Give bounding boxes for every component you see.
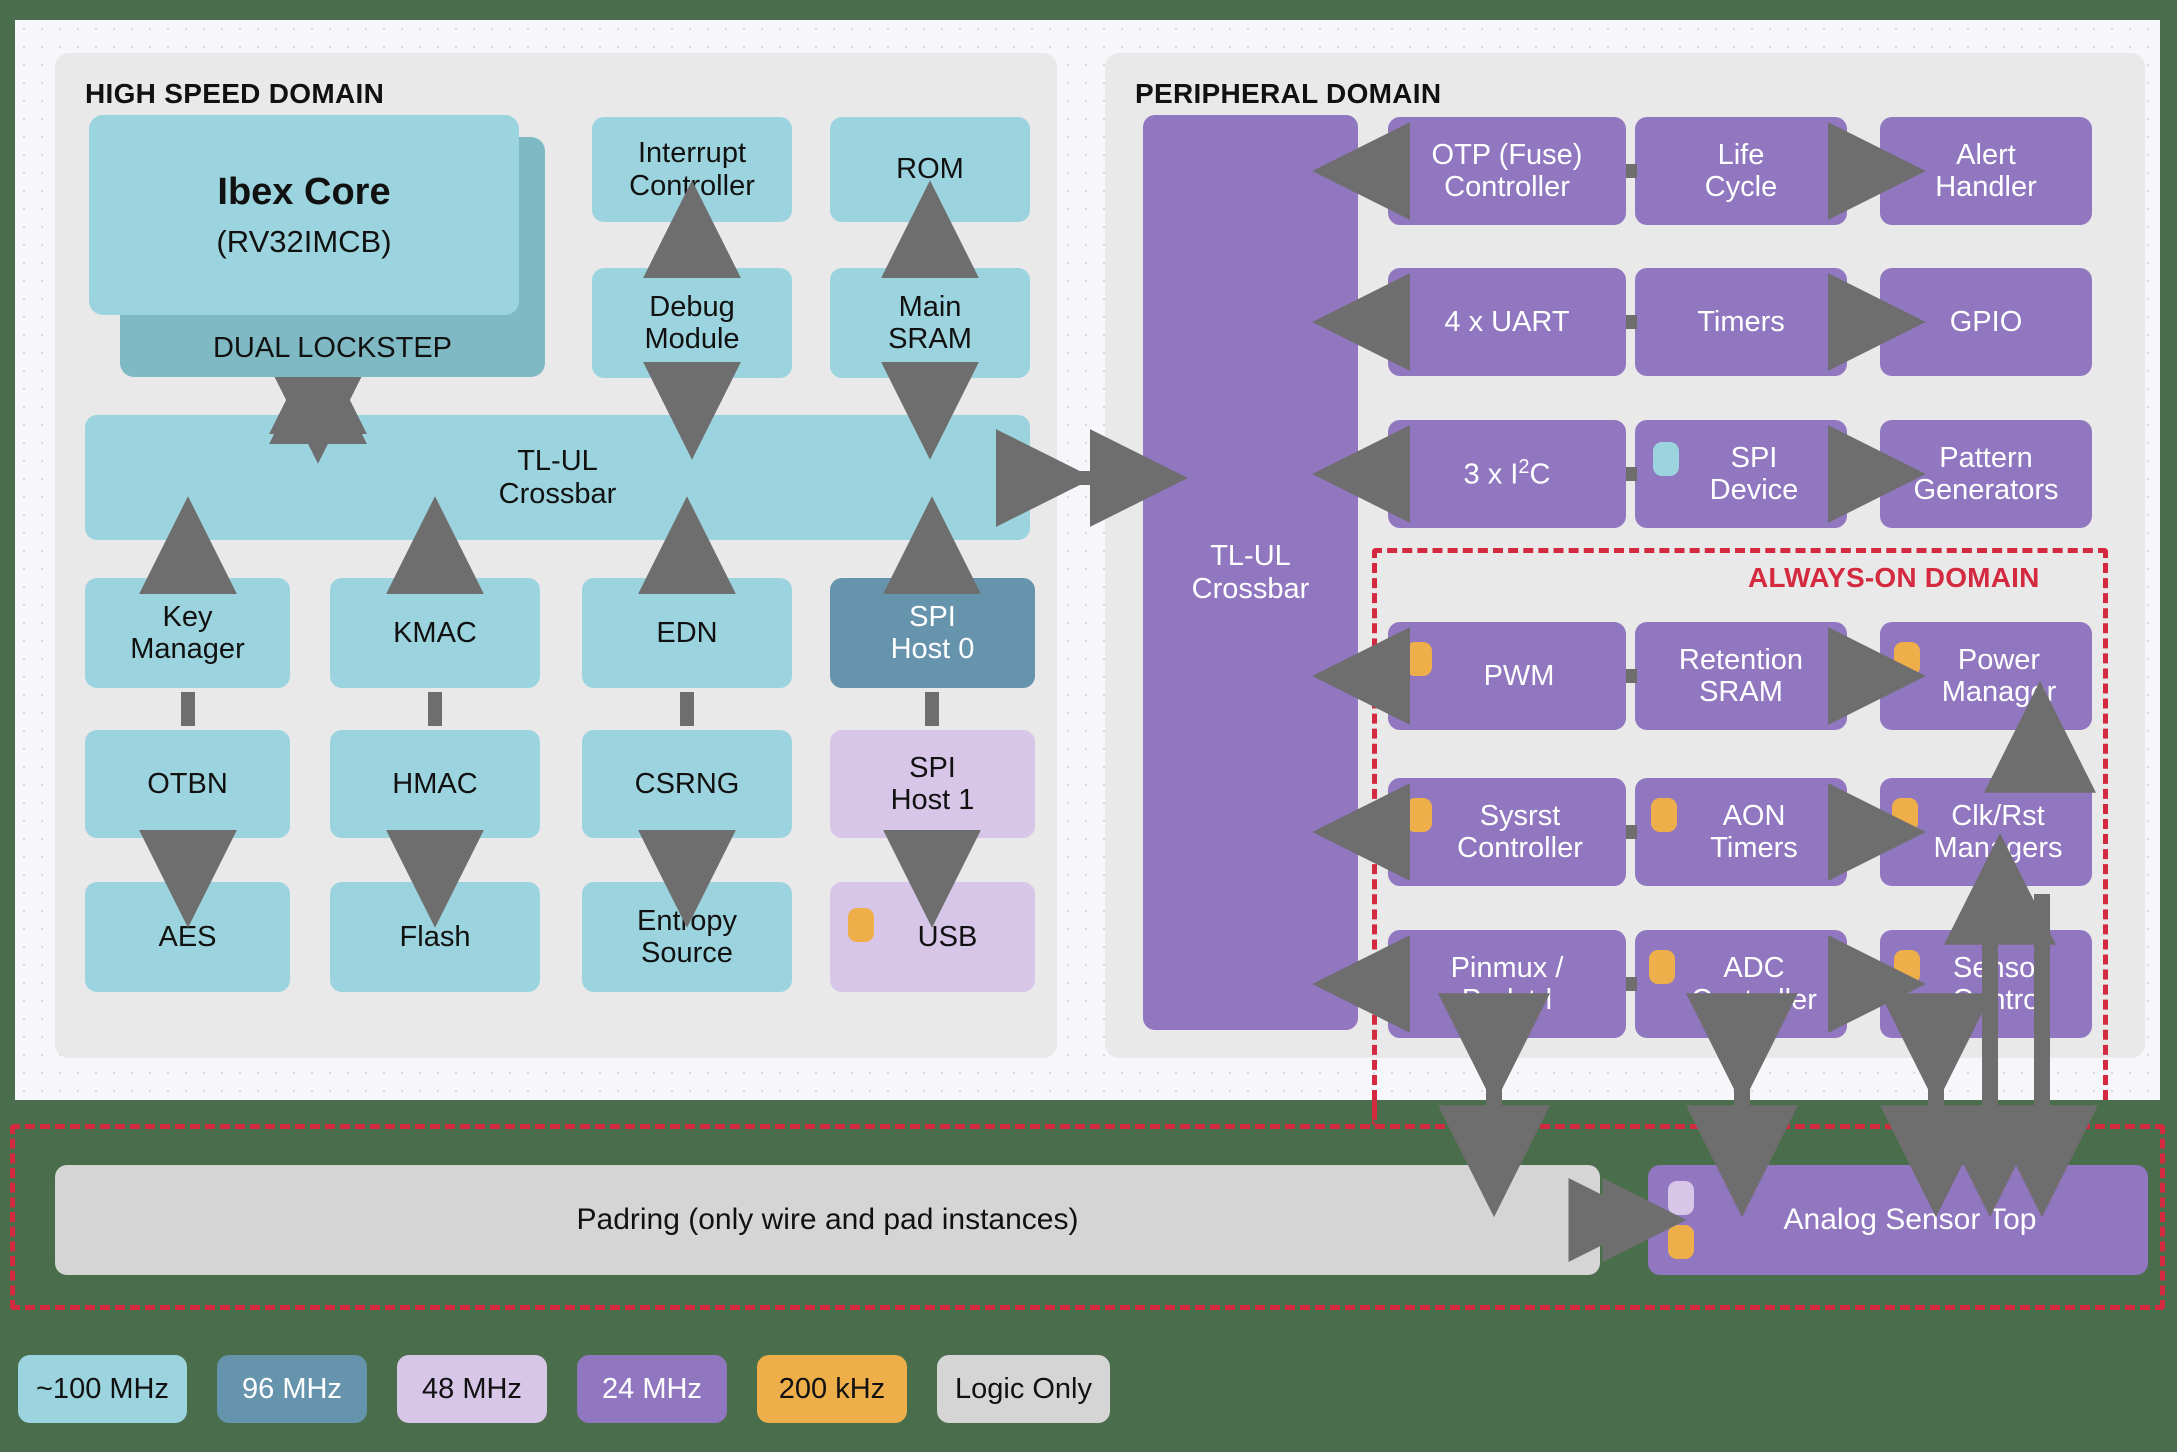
block-spi-host-1[interactable]: SPI Host 1: [830, 730, 1035, 838]
block-key-manager[interactable]: Key Manager: [85, 578, 290, 688]
block-timers[interactable]: Timers: [1635, 268, 1847, 376]
ibex-core-name: Ibex Core: [217, 171, 390, 214]
block-sysrst-controller[interactable]: Sysrst Controller: [1388, 778, 1626, 886]
hsd-crossbar-label: TL-UL Crossbar: [499, 445, 617, 510]
clock-dot-48mhz-icon: [1668, 1181, 1694, 1215]
block-rom[interactable]: ROM: [830, 117, 1030, 222]
clock-dot-200khz-icon: [1892, 798, 1918, 832]
analog-sensor-top-label: Analog Sensor Top: [1784, 1203, 2037, 1237]
ibex-core-isa: (RV32IMCB): [216, 224, 391, 260]
block-aes[interactable]: AES: [85, 882, 290, 992]
block-sensor-control[interactable]: Sensor Control: [1880, 930, 2092, 1038]
legend-item-96mhz[interactable]: 96 MHz: [217, 1355, 367, 1423]
block-label: Alert Handler: [1935, 139, 2037, 204]
clock-dot-200khz-icon: [1894, 950, 1920, 984]
legend-item-100mhz[interactable]: ~100 MHz: [18, 1355, 187, 1423]
block-power-manager[interactable]: Power Manager: [1880, 622, 2092, 730]
padring-label: Padring (only wire and pad instances): [577, 1203, 1079, 1237]
block-kmac[interactable]: KMAC: [330, 578, 540, 688]
block-edn[interactable]: EDN: [582, 578, 792, 688]
block-alert-handler[interactable]: Alert Handler: [1880, 117, 2092, 225]
clock-dot-200khz-icon: [1649, 950, 1675, 984]
block-label: Retention SRAM: [1679, 644, 1803, 709]
block-usb[interactable]: USB: [830, 882, 1035, 992]
block-label: Flash: [400, 921, 471, 953]
block-gpio[interactable]: GPIO: [1880, 268, 2092, 376]
block-label: EDN: [656, 617, 717, 649]
legend-item-logic-only[interactable]: Logic Only: [937, 1355, 1110, 1423]
block-label: Entropy Source: [637, 905, 737, 970]
always-on-domain-title: ALWAYS-ON DOMAIN: [1748, 562, 2040, 594]
block-label: Pattern Generators: [1913, 442, 2058, 507]
padring-block[interactable]: Padring (only wire and pad instances): [55, 1165, 1600, 1275]
peripheral-tlul-crossbar[interactable]: TL-UL Crossbar: [1143, 115, 1358, 1030]
block-entropy-source[interactable]: Entropy Source: [582, 882, 792, 992]
block-label: Sensor Control: [1952, 952, 2046, 1017]
block-label: SPI Host 0: [891, 601, 975, 666]
block-label: Sysrst Controller: [1457, 800, 1583, 865]
block-label: SPI Device: [1710, 442, 1799, 507]
block-label: AES: [158, 921, 216, 953]
block-interrupt-controller[interactable]: Interrupt Controller: [592, 117, 792, 222]
block-spi-device[interactable]: SPI Device: [1635, 420, 1847, 528]
block-csrng[interactable]: CSRNG: [582, 730, 792, 838]
block-label: ROM: [896, 153, 964, 185]
legend-item-24mhz[interactable]: 24 MHz: [577, 1355, 727, 1423]
legend-item-48mhz[interactable]: 48 MHz: [397, 1355, 547, 1423]
block-otp-fuse-controller[interactable]: OTP (Fuse) Controller: [1388, 117, 1626, 225]
block-label: Life Cycle: [1705, 139, 1778, 204]
block-label: AON Timers: [1710, 800, 1798, 865]
analog-sensor-top-block[interactable]: Analog Sensor Top: [1648, 1165, 2148, 1275]
block-label: CSRNG: [635, 768, 740, 800]
high-speed-domain-title: HIGH SPEED DOMAIN: [85, 78, 384, 110]
clock-legend: ~100 MHz 96 MHz 48 MHz 24 MHz 200 kHz Lo…: [18, 1355, 1110, 1423]
block-label: 3 x I2C: [1464, 456, 1551, 491]
block-aon-timers[interactable]: AON Timers: [1635, 778, 1847, 886]
block-label: 4 x UART: [1444, 306, 1569, 338]
block-retention-sram[interactable]: Retention SRAM: [1635, 622, 1847, 730]
peripheral-crossbar-label: TL-UL Crossbar: [1192, 540, 1310, 605]
block-label: SPI Host 1: [891, 752, 975, 817]
block-pattern-generators[interactable]: Pattern Generators: [1880, 420, 2092, 528]
block-otbn[interactable]: OTBN: [85, 730, 290, 838]
block-label: Key Manager: [130, 601, 244, 666]
clock-dot-200khz-icon: [848, 908, 874, 942]
block-label: OTP (Fuse) Controller: [1432, 139, 1583, 204]
block-pinmux-padctrl[interactable]: Pinmux / Padctrl: [1388, 930, 1626, 1038]
legend-item-200khz[interactable]: 200 kHz: [757, 1355, 907, 1423]
block-life-cycle[interactable]: Life Cycle: [1635, 117, 1847, 225]
block-adc-controller[interactable]: ADC Controller: [1635, 930, 1847, 1038]
legend-label: 200 kHz: [779, 1373, 885, 1406]
block-label: Power Manager: [1942, 644, 2056, 709]
block-label: GPIO: [1950, 306, 2023, 338]
legend-label: ~100 MHz: [36, 1373, 169, 1406]
legend-label: 48 MHz: [422, 1373, 522, 1406]
block-hmac[interactable]: HMAC: [330, 730, 540, 838]
block-i2c[interactable]: 3 x I2C: [1388, 420, 1626, 528]
block-label: Main SRAM: [888, 291, 972, 356]
clock-dot-200khz-icon: [1668, 1225, 1694, 1259]
block-label: Clk/Rst Managers: [1934, 800, 2063, 865]
dual-lockstep-label: DUAL LOCKSTEP: [213, 332, 452, 365]
legend-label: 96 MHz: [242, 1373, 342, 1406]
block-label: PWM: [1484, 660, 1555, 692]
block-label: Interrupt Controller: [629, 137, 755, 202]
peripheral-domain-title: PERIPHERAL DOMAIN: [1135, 78, 1441, 110]
clock-dot-200khz-icon: [1406, 642, 1432, 676]
block-label: KMAC: [393, 617, 477, 649]
legend-label: 24 MHz: [602, 1373, 702, 1406]
block-label: Timers: [1697, 306, 1785, 338]
clock-dot-200khz-icon: [1406, 798, 1432, 832]
block-label: Debug Module: [644, 291, 739, 356]
diagram-root: HIGH SPEED DOMAIN DUAL LOCKSTEP Ibex Cor…: [0, 0, 2177, 1452]
block-clk-rst-managers[interactable]: Clk/Rst Managers: [1880, 778, 2092, 886]
clock-dot-100mhz-icon: [1653, 442, 1679, 476]
block-label: ADC Controller: [1691, 952, 1817, 1017]
legend-label: Logic Only: [955, 1373, 1092, 1406]
clock-dot-200khz-icon: [1651, 798, 1677, 832]
block-label: USB: [918, 921, 978, 953]
block-main-sram[interactable]: Main SRAM: [830, 268, 1030, 378]
block-pwm[interactable]: PWM: [1388, 622, 1626, 730]
clock-dot-200khz-icon: [1894, 642, 1920, 676]
ibex-core-block[interactable]: Ibex Core (RV32IMCB): [89, 115, 519, 315]
block-flash[interactable]: Flash: [330, 882, 540, 992]
always-on-left-stem: [1372, 1095, 1377, 1125]
block-debug-module[interactable]: Debug Module: [592, 268, 792, 378]
block-label: HMAC: [392, 768, 477, 800]
block-uart[interactable]: 4 x UART: [1388, 268, 1626, 376]
block-spi-host-0[interactable]: SPI Host 0: [830, 578, 1035, 688]
hsd-tlul-crossbar[interactable]: TL-UL Crossbar: [85, 415, 1030, 540]
block-label: Pinmux / Padctrl: [1451, 952, 1564, 1017]
block-label: OTBN: [147, 768, 228, 800]
